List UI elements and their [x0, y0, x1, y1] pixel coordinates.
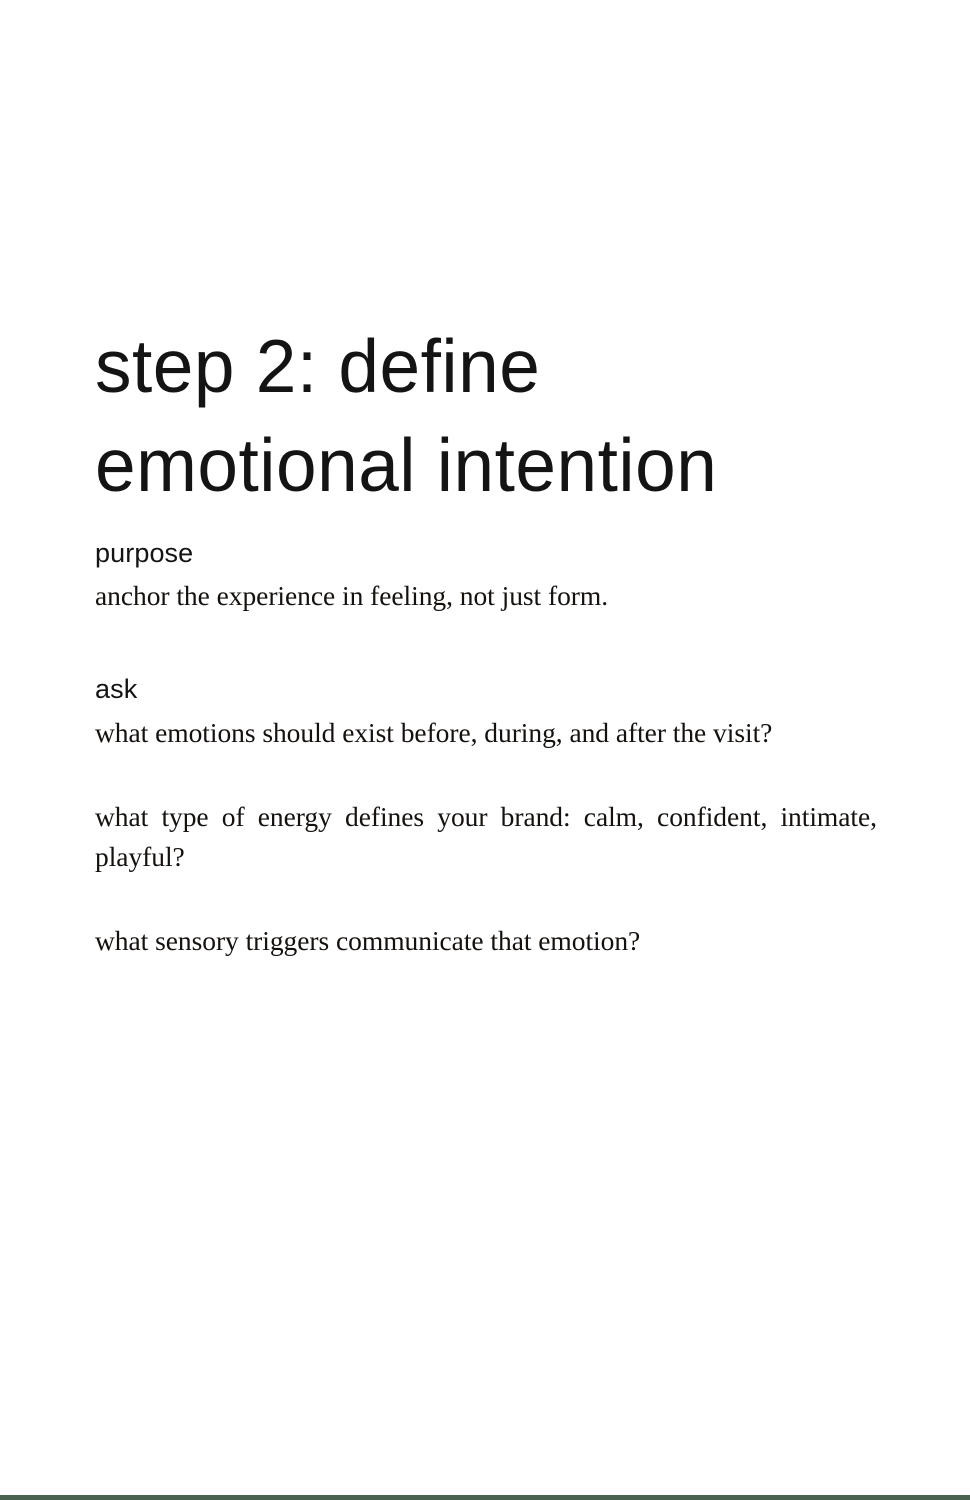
page-title: step 2: define emotional intention [95, 318, 877, 517]
list-item: what emotions should exist before, durin… [95, 713, 877, 753]
page-title-line-2: emotional intention [95, 417, 877, 516]
section-heading-ask: ask [95, 673, 877, 705]
list-item: what sensory triggers communicate that e… [95, 921, 877, 961]
list-item: what type of energy defines your brand: … [95, 797, 877, 877]
section-heading-purpose: purpose [95, 537, 877, 569]
document-page: step 2: define emotional intention purpo… [0, 0, 970, 1500]
ask-question-2: what type of energy defines your brand: … [95, 797, 877, 877]
section-ask: ask what emotions should exist before, d… [95, 673, 877, 961]
ask-question-3: what sensory triggers communicate that e… [95, 921, 877, 961]
section-purpose: purpose anchor the experience in feeling… [95, 537, 877, 617]
document-content: step 2: define emotional intention purpo… [95, 318, 877, 961]
purpose-body-text: anchor the experience in feeling, not ju… [95, 576, 877, 616]
footer-accent-band [0, 1495, 970, 1500]
ask-question-list: what emotions should exist before, durin… [95, 713, 877, 962]
ask-question-1: what emotions should exist before, durin… [95, 713, 877, 753]
page-title-line-1: step 2: define [95, 318, 877, 417]
